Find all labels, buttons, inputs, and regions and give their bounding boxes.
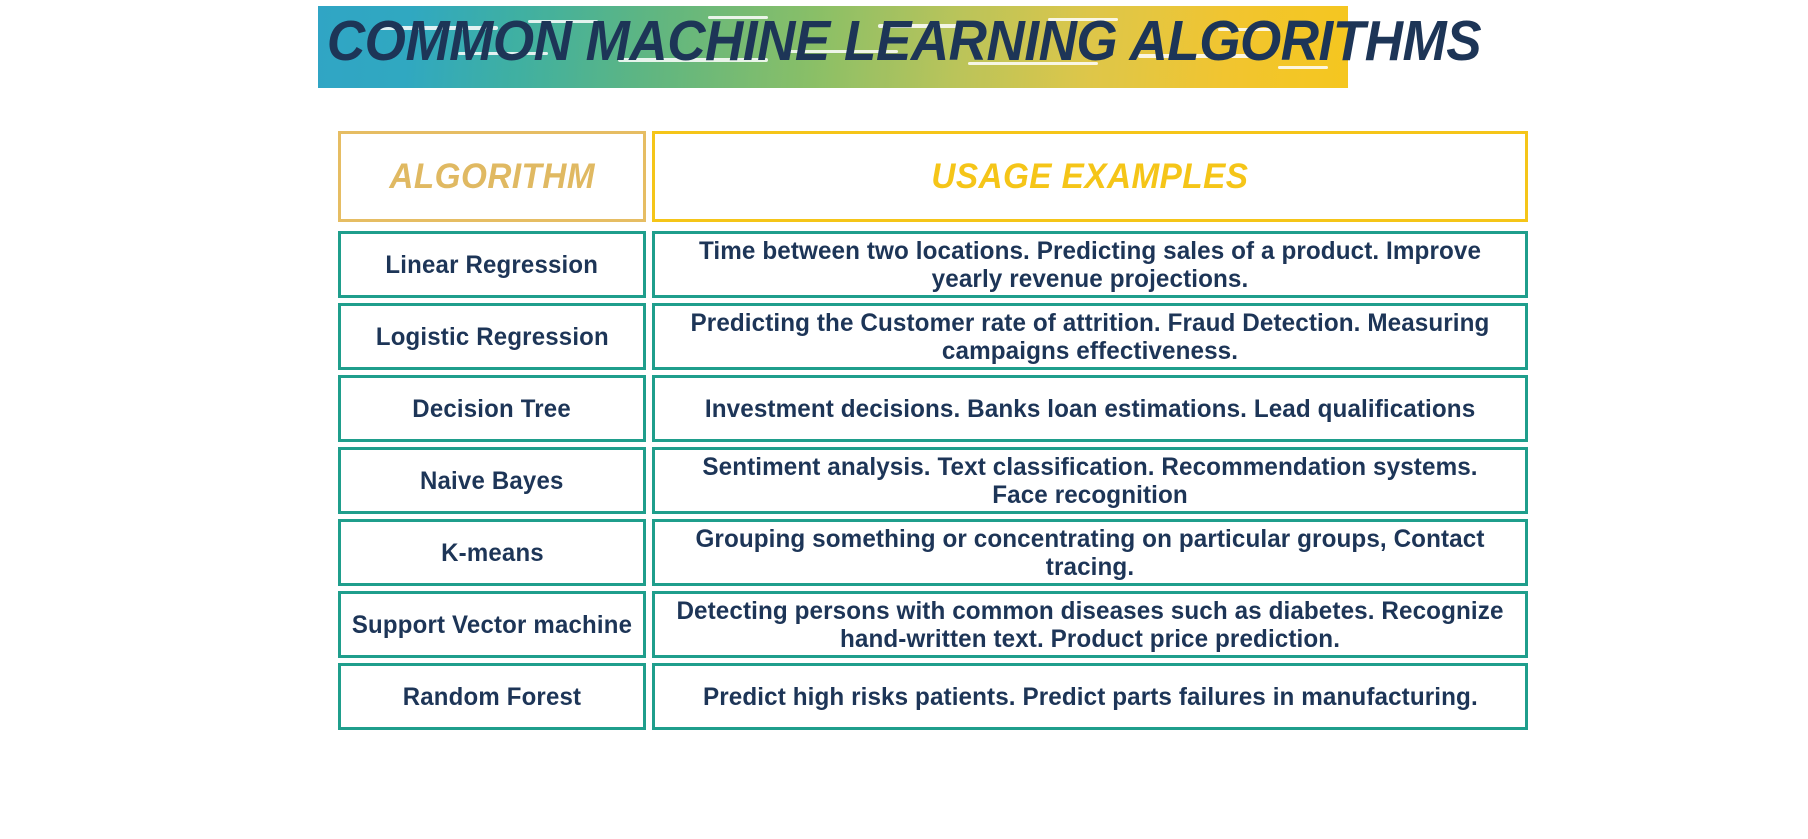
table-header-usage-label: USAGE EXAMPLES — [931, 157, 1248, 197]
usage-cell: Predict high risks patients. Predict par… — [652, 663, 1528, 730]
algorithm-cell: Logistic Regression — [338, 303, 646, 370]
algorithm-name: Naive Bayes — [420, 468, 564, 494]
page-header: COMMON MACHINE LEARNING ALGORITHMS — [0, 0, 1808, 110]
table-row: Naive Bayes Sentiment analysis. Text cla… — [338, 447, 1528, 514]
algorithm-name: Support Vector machine — [352, 612, 632, 638]
usage-cell: Grouping something or concentrating on p… — [652, 519, 1528, 586]
algorithm-name: Logistic Regression — [375, 324, 608, 350]
usage-examples: Sentiment analysis. Text classification.… — [668, 453, 1512, 509]
table-header-algorithm: ALGORITHM — [338, 131, 646, 222]
algorithm-name: Decision Tree — [413, 396, 572, 422]
table-header-algorithm-label: ALGORITHM — [389, 157, 595, 197]
table-row: Decision Tree Investment decisions. Bank… — [338, 375, 1528, 442]
table-row: Random Forest Predict high risks patient… — [338, 663, 1528, 730]
table-row: Logistic Regression Predicting the Custo… — [338, 303, 1528, 370]
table-row: Support Vector machine Detecting persons… — [338, 591, 1528, 658]
usage-examples: Investment decisions. Banks loan estimat… — [697, 395, 1483, 423]
usage-examples: Grouping something or concentrating on p… — [668, 525, 1512, 581]
table-header-row: ALGORITHM USAGE EXAMPLES — [338, 131, 1528, 222]
usage-cell: Predicting the Customer rate of attritio… — [652, 303, 1528, 370]
usage-examples: Predicting the Customer rate of attritio… — [668, 309, 1512, 365]
usage-cell: Time between two locations. Predicting s… — [652, 231, 1528, 298]
algorithm-cell: K-means — [338, 519, 646, 586]
page-title: COMMON MACHINE LEARNING ALGORITHMS — [63, 8, 1744, 74]
usage-examples: Time between two locations. Predicting s… — [668, 237, 1512, 293]
algorithm-cell: Support Vector machine — [338, 591, 646, 658]
algorithm-cell: Naive Bayes — [338, 447, 646, 514]
algorithm-name: K-means — [441, 540, 544, 566]
table-row: Linear Regression Time between two locat… — [338, 231, 1528, 298]
table-header-usage: USAGE EXAMPLES — [652, 131, 1528, 222]
table-row: K-means Grouping something or concentrat… — [338, 519, 1528, 586]
algorithm-cell: Linear Regression — [338, 231, 646, 298]
usage-cell: Sentiment analysis. Text classification.… — [652, 447, 1528, 514]
algorithms-table: ALGORITHM USAGE EXAMPLES Linear Regressi… — [338, 131, 1528, 735]
usage-cell: Investment decisions. Banks loan estimat… — [652, 375, 1528, 442]
usage-cell: Detecting persons with common diseases s… — [652, 591, 1528, 658]
algorithm-cell: Decision Tree — [338, 375, 646, 442]
algorithm-cell: Random Forest — [338, 663, 646, 730]
usage-examples: Detecting persons with common diseases s… — [668, 597, 1512, 653]
algorithm-name: Linear Regression — [386, 252, 599, 278]
usage-examples: Predict high risks patients. Predict par… — [695, 683, 1485, 711]
algorithm-name: Random Forest — [403, 684, 582, 710]
